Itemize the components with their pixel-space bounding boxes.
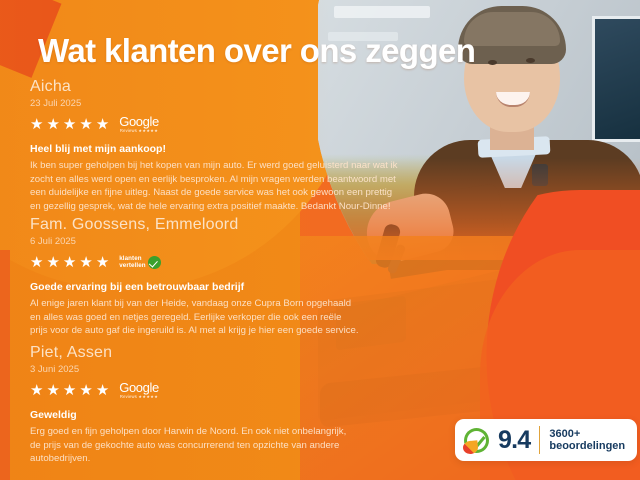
review-body: Erg goed en fijn geholpen door Harwin de… xyxy=(30,425,352,466)
star-icon: ★ xyxy=(30,117,43,132)
klantenvertellen-label: klanten vertellen xyxy=(119,255,145,269)
klantenvertellen-badge: klanten vertellen xyxy=(119,255,160,269)
star-icon: ★ xyxy=(46,383,59,398)
star-icon: ★ xyxy=(46,255,59,270)
review-date: 6 Juli 2025 xyxy=(30,236,420,248)
star-icon: ★ xyxy=(96,383,109,398)
check-circle-icon xyxy=(148,256,161,269)
review-card-2: Fam. Goossens, Emmeloord 6 Juli 2025 ★ ★… xyxy=(30,216,420,338)
klantenvertellen-line-2: vertellen xyxy=(119,262,145,269)
review-card-1: Aicha 23 Juli 2025 ★ ★ ★ ★ ★ Google Revi… xyxy=(30,78,420,213)
star-icon: ★ xyxy=(79,383,92,398)
rating-count: 3600+ xyxy=(549,428,625,440)
review-body: Al enige jaren klant bij van der Heide, … xyxy=(30,297,360,338)
star-icon: ★ xyxy=(63,383,76,398)
review-meta-row: ★ ★ ★ ★ ★ Google Reviews ★★★★★ xyxy=(30,380,420,400)
klantenvertellen-line-1: klanten xyxy=(119,255,145,262)
star-icon: ★ xyxy=(30,383,43,398)
google-reviews-subtext: Reviews ★★★★★ xyxy=(120,129,158,133)
reviewer-name: Fam. Goossens, Emmeloord xyxy=(30,216,420,234)
review-date: 23 Juli 2025 xyxy=(30,98,420,110)
google-reviews-badge: Google Reviews ★★★★★ xyxy=(119,381,159,399)
review-meta-row: ★ ★ ★ ★ ★ Google Reviews ★★★★★ xyxy=(30,114,420,134)
overall-rating-badge[interactable]: 9.4 3600+ beoordelingen xyxy=(455,419,637,461)
google-reviews-badge: Google Reviews ★★★★★ xyxy=(119,115,159,133)
star-rating: ★ ★ ★ ★ ★ xyxy=(30,383,109,398)
star-icon: ★ xyxy=(96,255,109,270)
reviewer-name: Aicha xyxy=(30,78,420,96)
review-title: Heel blij met mijn aankoop! xyxy=(30,143,420,156)
google-logo-text: Google xyxy=(119,115,159,128)
rating-count-label: beoordelingen xyxy=(549,440,625,452)
review-title: Geweldig xyxy=(30,409,420,422)
star-icon: ★ xyxy=(30,255,43,270)
star-rating: ★ ★ ★ ★ ★ xyxy=(30,255,109,270)
review-body: Ik ben super geholpen bij het kopen van … xyxy=(30,159,402,213)
klantenvertellen-check-icon xyxy=(464,428,489,453)
star-icon: ★ xyxy=(79,255,92,270)
star-icon: ★ xyxy=(63,117,76,132)
rating-count-block: 3600+ beoordelingen xyxy=(549,428,625,452)
rating-divider xyxy=(539,426,540,454)
review-date: 3 Juni 2025 xyxy=(30,364,420,376)
content-layer: Wat klanten over ons zeggen Aicha 23 Jul… xyxy=(0,0,640,480)
page-title: Wat klanten over ons zeggen xyxy=(38,32,475,70)
review-title: Goede ervaring bij een betrouwbaar bedri… xyxy=(30,281,420,294)
google-reviews-subtext: Reviews ★★★★★ xyxy=(120,395,158,399)
rating-score: 9.4 xyxy=(498,428,530,453)
star-icon: ★ xyxy=(96,117,109,132)
star-rating: ★ ★ ★ ★ ★ xyxy=(30,117,109,132)
review-meta-row: ★ ★ ★ ★ ★ klanten vertellen xyxy=(30,252,420,272)
review-card-3: Piet, Assen 3 Juni 2025 ★ ★ ★ ★ ★ Google… xyxy=(30,344,420,466)
google-logo-text: Google xyxy=(119,381,159,394)
reviewer-name: Piet, Assen xyxy=(30,344,420,362)
star-icon: ★ xyxy=(46,117,59,132)
star-icon: ★ xyxy=(63,255,76,270)
star-icon: ★ xyxy=(79,117,92,132)
